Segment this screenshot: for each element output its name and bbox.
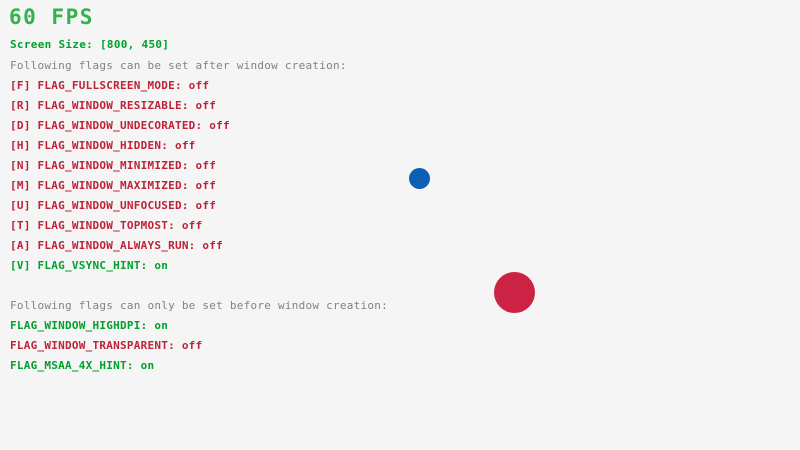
flag-row-msaa-4x-hint: FLAG_MSAA_4X_HINT: on <box>10 359 154 372</box>
raylib-window-canvas[interactable]: 60 FPS Screen Size: [800, 450] Following… <box>0 0 800 450</box>
flag-row-window-highdpi: FLAG_WINDOW_HIGHDPI: on <box>10 319 168 332</box>
flag-row-window-transparent: FLAG_WINDOW_TRANSPARENT: off <box>10 339 202 352</box>
flag-row-window-resizable[interactable]: [R] FLAG_WINDOW_RESIZABLE: off <box>10 99 216 112</box>
flag-row-window-undecorated[interactable]: [D] FLAG_WINDOW_UNDECORATED: off <box>10 119 230 132</box>
flag-row-window-always-run[interactable]: [A] FLAG_WINDOW_ALWAYS_RUN: off <box>10 239 223 252</box>
creation-flags-heading: Following flags can only be set before w… <box>10 299 388 312</box>
screen-size-readout: Screen Size: [800, 450] <box>10 38 169 51</box>
fps-counter: 60 FPS <box>9 5 94 29</box>
flag-row-vsync-hint[interactable]: [V] FLAG_VSYNC_HINT: on <box>10 259 168 272</box>
flag-row-window-minimized[interactable]: [N] FLAG_WINDOW_MINIMIZED: off <box>10 159 216 172</box>
blue-ball <box>409 168 430 189</box>
flag-row-window-maximized[interactable]: [M] FLAG_WINDOW_MAXIMIZED: off <box>10 179 216 192</box>
flag-row-fullscreen-mode[interactable]: [F] FLAG_FULLSCREEN_MODE: off <box>10 79 209 92</box>
flag-row-window-topmost[interactable]: [T] FLAG_WINDOW_TOPMOST: off <box>10 219 202 232</box>
flag-row-window-unfocused[interactable]: [U] FLAG_WINDOW_UNFOCUSED: off <box>10 199 216 212</box>
red-ball <box>494 272 535 313</box>
flag-row-window-hidden[interactable]: [H] FLAG_WINDOW_HIDDEN: off <box>10 139 196 152</box>
runtime-flags-heading: Following flags can be set after window … <box>10 59 347 72</box>
